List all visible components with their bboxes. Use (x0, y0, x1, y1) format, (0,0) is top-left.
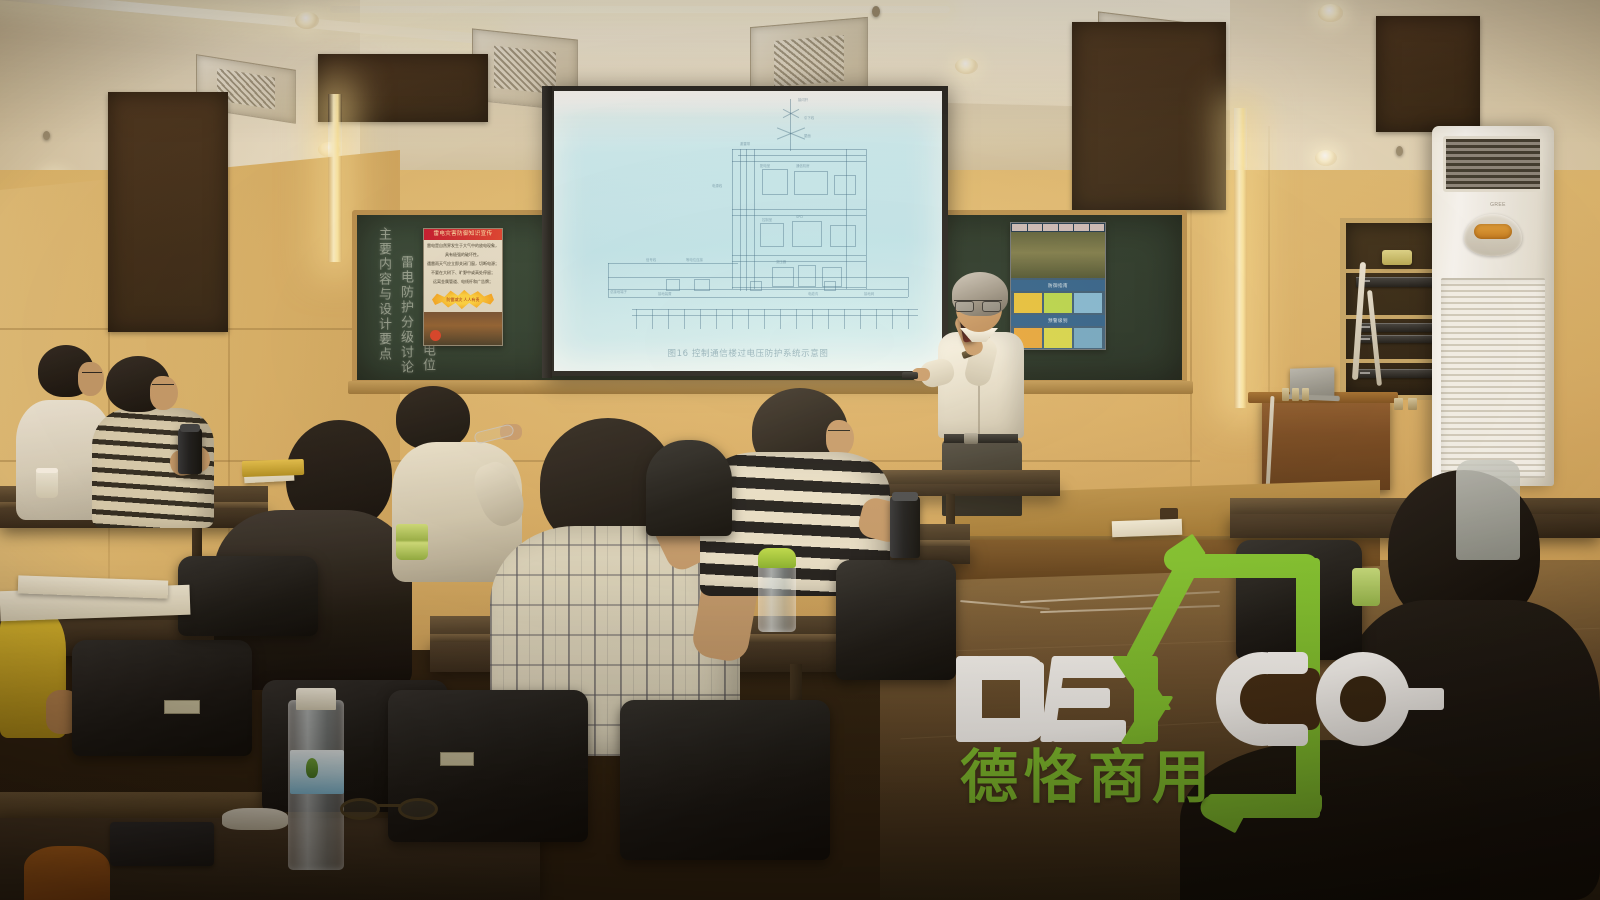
rack-gear-mixer (1356, 369, 1442, 378)
diagram-label: 接地网 (864, 291, 874, 296)
poster-body-line: 遇雷雨天气应立即关闭门窗，切断电源； (424, 258, 502, 267)
yellow-folder (242, 459, 305, 477)
water-bottle-small (1408, 398, 1417, 410)
water-bottle-small (1282, 388, 1289, 401)
chalk-text: 雷电防护分级讨论 (397, 255, 412, 375)
telephone-handset[interactable] (1382, 250, 1412, 265)
presenter-belt (944, 434, 1018, 443)
dekco-logo: 德恪商用 (940, 552, 1460, 852)
poster-photo (424, 312, 502, 346)
paper-sheet (1112, 519, 1183, 537)
slide-caption: 图16 控制通信楼过电压防护系统示意图 (554, 347, 942, 359)
water-bottle-small (1302, 388, 1309, 401)
sprinkler-head (872, 6, 880, 17)
ac-brand-label: GREE (1478, 202, 1518, 208)
attendee-face (150, 376, 178, 410)
eyeglasses-icon (340, 796, 452, 822)
logo-chinese-text: 德恪商用 (960, 744, 1260, 810)
attendee-shoulder (1456, 460, 1520, 560)
seminar-room-photo: 主要内容与设计要点 雷电防护分级讨论 接地与等电位 雷电灾害防御知识宣传 雷电是… (0, 0, 1600, 900)
poster-starburst: 防雷减灾 人人有责 (432, 289, 494, 310)
ac-lower-louvers (1441, 278, 1545, 478)
diagram-label: 配电室 (760, 163, 770, 168)
diagram-label: 接地装置 (658, 291, 672, 296)
logo-letter-o (1316, 652, 1412, 746)
attendee-shoulder-orange (24, 846, 110, 900)
cove-light-strip-secondary (330, 6, 950, 13)
sprinkler-head (1396, 146, 1403, 156)
ac-air-grille (1443, 136, 1543, 192)
eyeglasses-icon (954, 300, 1002, 309)
chair[interactable] (620, 700, 830, 860)
poster-header-strip (1011, 223, 1105, 232)
thermos-cap (180, 424, 200, 432)
desk-front (860, 484, 1060, 496)
ac-display (1474, 224, 1512, 239)
diagram-label: 控制室 (762, 217, 772, 222)
chair[interactable] (836, 560, 956, 680)
chalk-text: 主要内容与设计要点 (375, 227, 390, 377)
diagram-label: SPD (796, 215, 803, 219)
diagram-label: 通信机房 (796, 163, 810, 168)
belt-buckle (964, 433, 978, 444)
acoustic-wall-panel (108, 92, 228, 332)
poster-body-line: 雷电是自然界发生于大气中的放电现象， (424, 240, 502, 249)
diagram-label: 信号线 (646, 257, 656, 262)
chair-label-tag (164, 700, 200, 714)
rack-gear-amplifier (1356, 277, 1442, 287)
diagram-label: 屋面 (804, 133, 811, 138)
diagram-label: 接闪杆 (798, 97, 808, 102)
bottle-cap-green (758, 548, 796, 568)
ceiling-downlight (1315, 150, 1337, 166)
eyeglasses-icon (152, 384, 174, 390)
wall-light-strip (1234, 108, 1247, 408)
smartphone[interactable] (110, 822, 214, 866)
logo-letter-c (1216, 652, 1308, 746)
acoustic-wall-panel (1072, 22, 1226, 210)
chair[interactable] (72, 640, 252, 756)
rack-gear-dvd-player (1356, 323, 1442, 332)
acoustic-wall-panel (318, 54, 488, 122)
thermos-flask (178, 428, 202, 474)
diagram-label: 电缆沟 (808, 291, 818, 296)
rack-gear-patch-panel (1356, 335, 1442, 343)
laser-pointer[interactable] (902, 372, 918, 379)
diagram-label: 总接地端子 (610, 289, 627, 294)
logo-letter-k (1134, 656, 1204, 742)
water-bottle-small (1394, 398, 1403, 410)
bottle-cap (296, 688, 336, 710)
tissue (222, 808, 288, 830)
attendee-face (826, 420, 854, 456)
diagram-label: 等电位连接 (686, 257, 703, 262)
projection-screen: 接闪杆 引下线 屋面 避雷带 配电室 通信机房 (554, 91, 942, 371)
projection-screen-frame: 接闪杆 引下线 屋面 避雷带 配电室 通信机房 (548, 86, 948, 376)
green-cup (396, 524, 428, 560)
chair[interactable] (646, 440, 732, 536)
eyeglasses-icon (82, 372, 102, 378)
water-bottle-small (1292, 388, 1299, 401)
ceiling-downlight (295, 12, 319, 29)
chair[interactable] (178, 556, 318, 636)
thermos-cap (892, 492, 918, 501)
ceiling-downlight (955, 58, 978, 74)
diagram-label: 避雷带 (740, 141, 750, 146)
poster-body-line: 远离金属管道、电线杆和广告牌； (424, 276, 502, 285)
attendee-hair (396, 386, 470, 450)
screen-glare (554, 91, 942, 117)
sprinkler-head (43, 131, 50, 140)
safety-poster-left: 雷电灾害防御知识宣传 雷电是自然界发生于大气中的放电现象， 具有极强的破坏性。 … (423, 228, 503, 346)
ceiling-downlight (1318, 4, 1343, 22)
diagram-label: 电源线 (712, 183, 722, 188)
cup-rim (36, 468, 58, 473)
thermos-flask (890, 496, 920, 558)
wall-light-strip (328, 94, 342, 262)
paper-cup (36, 470, 58, 498)
poster-body-line: 具有极强的破坏性。 (424, 249, 502, 258)
logo-letter-e (1052, 656, 1126, 742)
podium (1262, 398, 1390, 490)
blackboard-chalk-ledge (348, 381, 1193, 394)
bottle-label-figure (306, 758, 318, 778)
diagram-label: 引下线 (804, 115, 814, 120)
attendee-face (78, 362, 104, 396)
eyeglasses-icon (828, 430, 850, 436)
diagram-label: 变压器 (776, 259, 786, 264)
poster-body-line: 不要在大树下、旷野中或高处停留； (424, 267, 502, 276)
acoustic-wall-panel (1376, 16, 1480, 132)
poster-header: 雷电灾害防御知识宣传 (424, 229, 502, 240)
chair-label-tag (440, 752, 474, 766)
logo-letter-d (956, 656, 1044, 742)
